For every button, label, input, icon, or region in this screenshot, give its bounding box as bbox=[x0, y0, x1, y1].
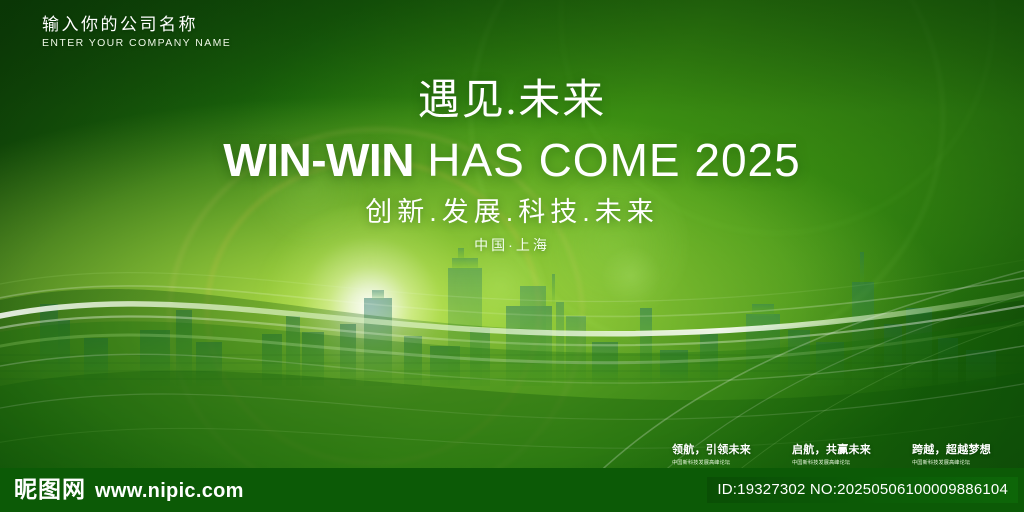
nipic-watermark: 昵图网 www.nipic.com bbox=[14, 475, 244, 504]
image-id-badge: ID:19327302 NO:20250506100009886104 bbox=[707, 477, 1018, 503]
headline-title-en-light: HAS COME 2025 bbox=[427, 134, 800, 186]
column-subtitle: 中国新科技发展高峰论坛 bbox=[672, 459, 770, 467]
poster-canvas: 输入你的公司名称 ENTER YOUR COMPANY NAME 遇见.未来 W… bbox=[0, 0, 1024, 512]
company-name-block: 输入你的公司名称 ENTER YOUR COMPANY NAME bbox=[42, 14, 231, 51]
headline-block: 遇见.未来 WIN-WIN HAS COME 2025 创新.发展.科技.未来 … bbox=[0, 74, 1024, 255]
headline-location: 中国·上海 bbox=[0, 235, 1024, 255]
headline-title-cn: 遇见.未来 bbox=[0, 74, 1024, 128]
column-title: 启航，共赢未来 bbox=[792, 443, 890, 457]
watermark-url: www.nipic.com bbox=[95, 478, 244, 504]
column-subtitle: 中国新科技发展高峰论坛 bbox=[792, 459, 890, 467]
column-title: 领航，引领未来 bbox=[672, 443, 770, 457]
company-name-en: ENTER YOUR COMPANY NAME bbox=[42, 36, 231, 51]
column-title: 跨越，超越梦想 bbox=[912, 443, 1010, 457]
company-name-cn: 输入你的公司名称 bbox=[42, 14, 231, 36]
column-subtitle: 中国新科技发展高峰论坛 bbox=[912, 459, 1010, 467]
headline-subtitle-cn: 创新.发展.科技.未来 bbox=[0, 195, 1024, 229]
headline-title-en: WIN-WIN HAS COME 2025 bbox=[0, 132, 1024, 188]
headline-title-en-bold: WIN-WIN bbox=[223, 134, 414, 186]
watermark-logo-cn: 昵图网 bbox=[14, 475, 86, 503]
